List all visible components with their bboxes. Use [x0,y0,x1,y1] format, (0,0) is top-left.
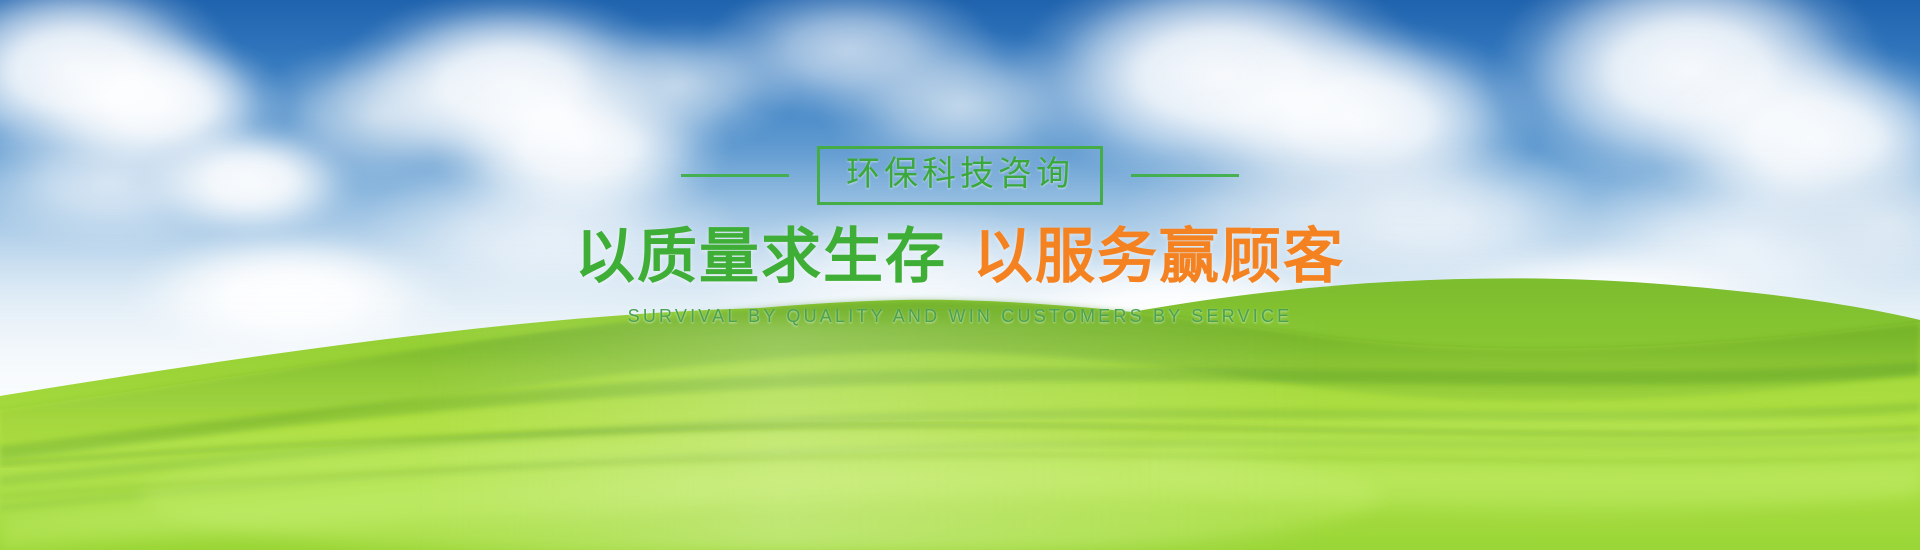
headline: 以质量求生存以服务赢顾客 [0,226,1920,290]
subheadline: SURVIVAL BY QUALITY AND WIN CUSTOMERS BY… [0,306,1920,327]
grass-light-band [420,320,1320,550]
hero-banner: 环保科技咨询 以质量求生存以服务赢顾客 SURVIVAL BY QUALITY … [0,0,1920,550]
banner-copy: 环保科技咨询 以质量求生存以服务赢顾客 SURVIVAL BY QUALITY … [0,140,1920,327]
decorative-rule-left-icon [681,174,789,177]
category-badge-label: 环保科技咨询 [846,154,1074,194]
headline-green-part: 以质量求生存 [575,222,947,292]
eyebrow-row: 环保科技咨询 [0,140,1920,210]
headline-orange-part: 以服务赢顾客 [973,222,1345,292]
category-badge: 环保科技咨询 [817,146,1103,205]
decorative-rule-right-icon [1131,174,1239,177]
